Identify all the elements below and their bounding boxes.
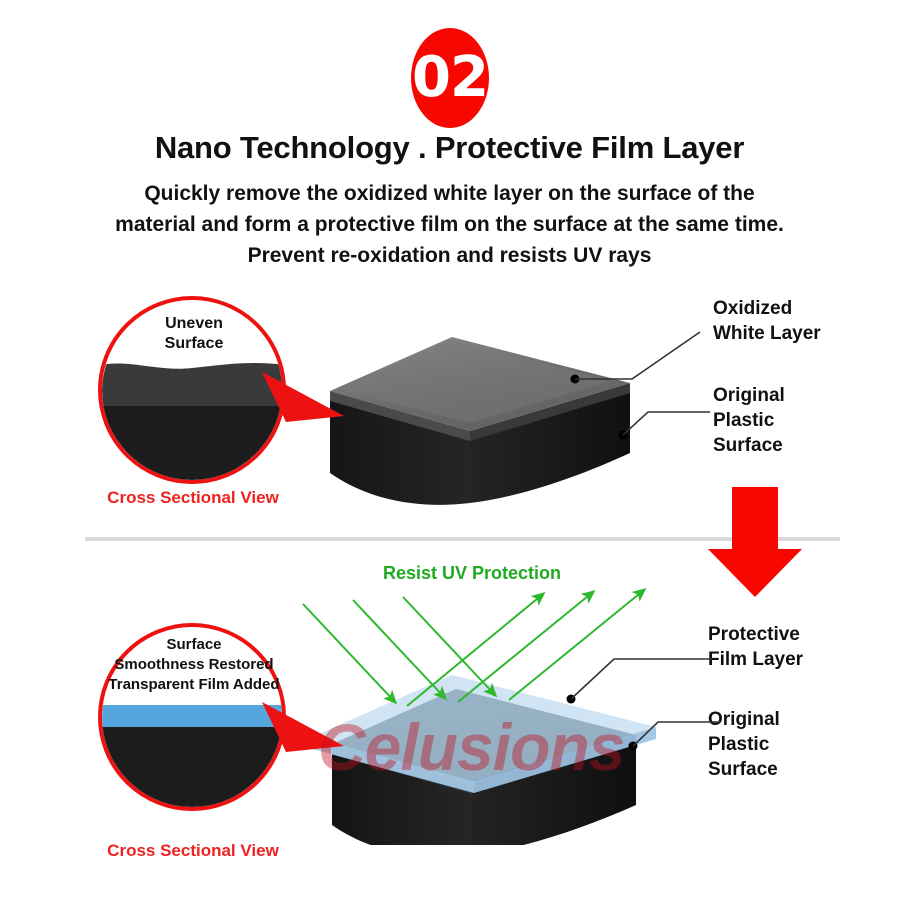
infographic-page: 02 Nano Technology . Protective Film Lay…: [0, 0, 899, 899]
cross-section-bottom-label: Surface Smoothness Restored Transparent …: [98, 635, 290, 695]
red-pointer-triangle-icon-top: [262, 370, 344, 428]
cross-section-top-label: Uneven Surface: [98, 314, 290, 354]
description-line-1: Quickly remove the oxidized white layer …: [55, 178, 844, 209]
cross-section-caption-top: Cross Sectional View: [78, 488, 308, 508]
uv-incoming-ray-2: [353, 600, 445, 698]
page-title: Nano Technology . Protective Film Layer: [0, 130, 899, 166]
description-block: Quickly remove the oxidized white layer …: [55, 178, 844, 271]
cross-section-caption-bottom: Cross Sectional View: [78, 841, 308, 861]
description-line-3: Prevent re-oxidation and resists UV rays: [55, 240, 844, 271]
leader-lines-top: [570, 300, 730, 480]
uv-incoming-ray-1: [303, 604, 395, 702]
description-line-2: material and form a protective film on t…: [55, 209, 844, 240]
step-number-badge: 02: [411, 28, 489, 128]
red-down-arrow-icon: [705, 487, 805, 597]
leader-lines-bottom: [560, 615, 740, 805]
